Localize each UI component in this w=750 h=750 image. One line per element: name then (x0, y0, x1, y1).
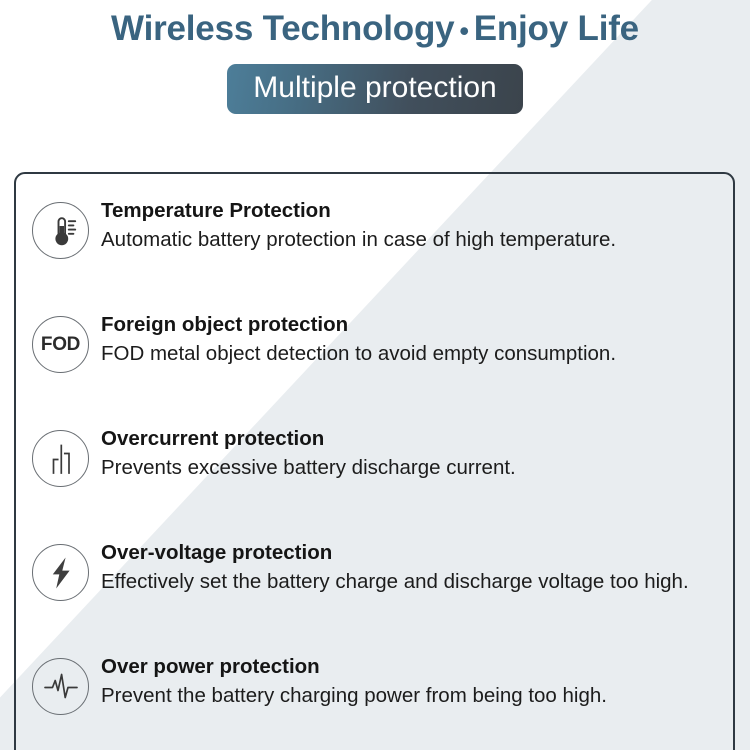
list-item: Overcurrent protection Prevents excessiv… (32, 424, 725, 538)
feature-description: Prevent the battery charging power from … (101, 683, 607, 710)
lightning-bolt-icon (32, 544, 89, 601)
feature-title: Temperature Protection (101, 198, 616, 224)
list-item: Temperature Protection Automatic battery… (32, 196, 725, 310)
feature-description: FOD metal object detection to avoid empt… (101, 341, 616, 368)
feature-text: Temperature Protection Automatic battery… (101, 196, 616, 253)
list-item: FOD Foreign object protection FOD metal … (32, 310, 725, 424)
bullet-separator-icon: • (454, 16, 473, 46)
feature-description: Prevents excessive battery discharge cur… (101, 455, 516, 482)
status-badge: Multiple protection (227, 64, 522, 114)
fod-icon-label: FOD (41, 334, 80, 356)
feature-description: Effectively set the battery charge and d… (101, 569, 689, 596)
page-title-right: Enjoy Life (474, 9, 639, 48)
page-title: Wireless Technology•Enjoy Life (0, 8, 750, 50)
badge-container: Multiple protection (0, 64, 750, 114)
feature-description: Automatic battery protection in case of … (101, 227, 616, 254)
fod-icon: FOD (32, 316, 89, 373)
feature-title: Overcurrent protection (101, 426, 516, 452)
feature-text: Overcurrent protection Prevents excessiv… (101, 424, 516, 481)
pulse-wave-icon (32, 658, 89, 715)
header: Wireless Technology•Enjoy Life Multiple … (0, 0, 750, 114)
feature-title: Over-voltage protection (101, 540, 689, 566)
infographic-canvas: Wireless Technology•Enjoy Life Multiple … (0, 0, 750, 750)
feature-list: Temperature Protection Automatic battery… (14, 172, 735, 750)
feature-text: Foreign object protection FOD metal obje… (101, 310, 616, 367)
feature-title: Over power protection (101, 654, 607, 680)
page-title-left: Wireless Technology (111, 9, 454, 48)
feature-text: Over power protection Prevent the batter… (101, 652, 607, 709)
feature-text: Over-voltage protection Effectively set … (101, 538, 689, 595)
list-item: Over-voltage protection Effectively set … (32, 538, 725, 652)
feature-title: Foreign object protection (101, 312, 616, 338)
list-item: Over power protection Prevent the batter… (32, 652, 725, 750)
thermometer-icon (32, 202, 89, 259)
overcurrent-icon (32, 430, 89, 487)
